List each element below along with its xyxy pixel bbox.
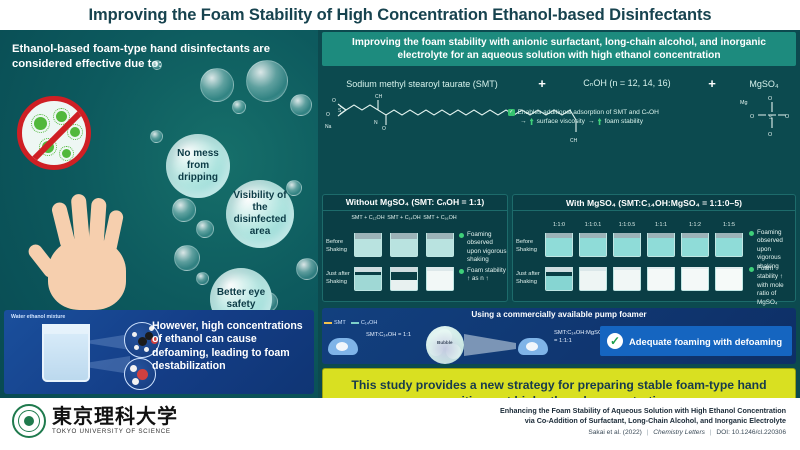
- approach-headline: Improving the foam stability with anioni…: [322, 32, 796, 66]
- adequate-foaming-result: ✓ Adequate foaming with defoaming: [600, 326, 792, 356]
- benefit-label: Visibility of the disinfected area: [226, 190, 294, 238]
- column-header: 1:1:0: [543, 222, 575, 229]
- page-title-bar: Improving the Foam Stability of High Con…: [0, 0, 800, 30]
- citation-meta: Sakai et al. (2022) | Chemistry Letters …: [386, 429, 786, 436]
- note-text: Foam stability ↑ with mole ratio of MgSO…: [757, 265, 795, 307]
- citation-journal: Chemistry Letters: [653, 429, 705, 436]
- university-seal-icon: [12, 404, 46, 438]
- sample-vial: [390, 267, 418, 291]
- washing-hands-illustration: [30, 180, 180, 320]
- sample-vial: [545, 267, 573, 291]
- decor-bubble: [196, 220, 214, 238]
- footer: 東京理科大学 TOKYO UNIVERSITY OF SCIENCE Enhan…: [0, 398, 800, 450]
- university-name-jp: 東京理科大学: [52, 407, 178, 428]
- sample-vial: [681, 267, 709, 291]
- panel-without-note-2: Foam stability ↑ as n ↑: [459, 267, 507, 284]
- decor-bubble: [232, 100, 246, 114]
- column-header: SMT + C₁₄OH: [387, 215, 421, 222]
- sample-vial: [579, 233, 607, 257]
- svg-text:CH: CH: [570, 138, 578, 144]
- sample-vial: [390, 233, 418, 257]
- row-label: Before Shaking: [516, 239, 542, 254]
- panel-without-note-1: Foaming observed upon vigorous shaking: [459, 231, 507, 265]
- beaker-illustration: [42, 324, 90, 382]
- sample-vial: [647, 267, 675, 291]
- sample-vial: [715, 233, 743, 257]
- column-header: 1:1:1: [645, 222, 677, 229]
- sample-vial: [647, 233, 675, 257]
- panel-with-note-2: Foam stability ↑ with mole ratio of MgSO…: [749, 265, 795, 307]
- legend-label: C₁₄OH: [361, 320, 378, 326]
- panel-with-mgso4: With MgSO₄ (SMT:C₁₄OH:MgSO₄ = 1:1:0–5) 1…: [512, 194, 796, 302]
- column-header: 1:1:0.5: [611, 222, 643, 229]
- note-text: Foaming observed upon vigorous shaking: [467, 231, 507, 265]
- row-label: Before Shaking: [326, 239, 352, 254]
- bubble-microstructure-icon: Bubble: [426, 326, 464, 364]
- citation-separator: |: [644, 429, 652, 436]
- hand-foam-icon: [514, 330, 554, 358]
- citation-doi: DOI: 10.1246/cl.220306: [716, 429, 786, 436]
- check-circle-icon: ✓: [607, 333, 623, 349]
- svg-text:O: O: [768, 96, 772, 102]
- panel-with-title: With MgSO₄ (SMT:C₁₄OH:MgSO₄ = 1:1:0–5): [513, 195, 795, 211]
- svg-text:O: O: [382, 126, 386, 132]
- bullet-icon: [459, 233, 464, 238]
- decor-bubble: [296, 258, 318, 280]
- however-text: However, high concentrations of ethanol …: [152, 320, 310, 374]
- increase-arrow-icon: [598, 118, 602, 125]
- decor-bubble: [246, 60, 288, 102]
- decor-bubble: [290, 94, 312, 116]
- pump-foamer-section: Using a commercially available pump foam…: [322, 308, 796, 364]
- citation-authors: Sakai et al. (2022): [588, 429, 642, 436]
- note-text: Foam stability ↑ as n ↑: [467, 267, 507, 284]
- sample-vial: [715, 267, 743, 291]
- sample-vial: [579, 267, 607, 291]
- formulation-row: Sodium methyl stearoyl taurate (SMT) + C…: [322, 76, 796, 91]
- mechanism-note: ✓ Enables additional adsorption of SMT a…: [508, 108, 792, 126]
- no-germs-icon: [17, 96, 91, 170]
- university-name-en: TOKYO UNIVERSITY OF SCIENCE: [52, 428, 178, 435]
- benefit-bubble-visibility: Visibility of the disinfected area: [226, 180, 294, 248]
- decor-bubble: [152, 60, 162, 70]
- arrow-icon: →: [520, 117, 527, 126]
- sample-vial: [354, 267, 382, 291]
- bullet-icon: [749, 267, 754, 272]
- paper-title-line-2: via Co-Addition of Surfactant, Long-Chai…: [386, 416, 786, 426]
- plus-sign: +: [692, 76, 732, 91]
- mechanism-line-2: → surface viscosity → foam stability: [508, 117, 792, 126]
- mechanism-line-1: ✓ Enables additional adsorption of SMT a…: [508, 108, 792, 117]
- sample-vial: [354, 233, 382, 257]
- bullet-icon: [459, 269, 464, 274]
- svg-text:CH: CH: [375, 94, 383, 100]
- mechanism-line-2-b: foam stability: [605, 117, 643, 126]
- svg-text:O: O: [326, 112, 330, 118]
- sample-vial: [613, 267, 641, 291]
- decor-bubble: [150, 130, 163, 143]
- university-logo: 東京理科大学 TOKYO UNIVERSITY OF SCIENCE: [12, 404, 178, 438]
- svg-text:O: O: [768, 132, 772, 138]
- ethanol-defoaming-callout: Water ethanol mixture However, high conc…: [4, 310, 314, 394]
- benefit-bubble-no-mess: No mess from dripping: [166, 134, 230, 198]
- svg-text:Mg: Mg: [740, 100, 748, 106]
- column-header: 1:1:2: [679, 222, 711, 229]
- zoom-connector-icon: [464, 332, 516, 358]
- benefit-label: Better eye safety: [210, 287, 272, 311]
- column-header: SMT + C₁₆OH: [423, 215, 457, 222]
- sample-vial: [545, 233, 573, 257]
- mechanism-line-1-text: Enables additional adsorption of SMT and…: [518, 108, 659, 117]
- legend-smt: SMT C₁₄OH: [324, 320, 377, 326]
- svg-text:Na: Na: [325, 124, 332, 130]
- bullet-icon: [749, 231, 754, 236]
- sample-vial: [426, 267, 454, 291]
- panel-without-mgso4: Without MgSO₄ (SMT: CₙOH = 1:1) SMT + C₁…: [322, 194, 508, 302]
- svg-text:O: O: [332, 98, 336, 104]
- adequate-foaming-text: Adequate foaming with defoaming: [629, 336, 782, 347]
- column-header: 1:1:0.1: [577, 222, 609, 229]
- citation-block: Enhancing the Foam Stability of Aqueous …: [386, 406, 786, 436]
- legend-swatch-icon: [324, 322, 332, 324]
- benefit-label: No mess from dripping: [166, 148, 230, 184]
- sample-vial: [426, 233, 454, 257]
- row-label: Just after Shaking: [326, 271, 354, 286]
- pump-left-ratio: SMT:C₁₄OH = 1:1: [366, 332, 422, 340]
- decor-bubble: [200, 68, 234, 102]
- component-mgso4: MgSO₄: [732, 79, 796, 89]
- mechanism-line-2-a: surface viscosity: [537, 117, 585, 126]
- increase-arrow-icon: [530, 118, 534, 125]
- sample-vial: [681, 233, 709, 257]
- legend-label: SMT: [334, 320, 346, 326]
- panel-without-title: Without MgSO₄ (SMT: CₙOH = 1:1): [323, 195, 507, 211]
- decor-bubble: [196, 272, 209, 285]
- hand-foam-icon: [324, 330, 364, 358]
- sample-vial: [613, 233, 641, 257]
- beaker-caption: Water ethanol mixture: [11, 314, 65, 320]
- row-label: Just after Shaking: [516, 271, 544, 286]
- citation-separator: |: [707, 429, 715, 436]
- column-header: 1:1:5: [713, 222, 745, 229]
- paper-title-line-1: Enhancing the Foam Stability of Aqueous …: [386, 406, 786, 416]
- plus-sign: +: [522, 76, 562, 91]
- component-alcohol: CₙOH (n = 12, 14, 16): [562, 78, 692, 89]
- arrow-icon: →: [588, 117, 595, 126]
- component-smt: Sodium methyl stearoyl taurate (SMT): [322, 79, 522, 89]
- svg-text:N: N: [374, 120, 378, 126]
- pump-foamer-title: Using a commercially available pump foam…: [322, 310, 796, 319]
- page-title: Improving the Foam Stability of High Con…: [89, 6, 712, 25]
- check-icon: ✓: [508, 109, 515, 116]
- legend-swatch-icon: [351, 322, 359, 324]
- pump-right-ratio: SMT:C₁₄OH:MgSO₄ = 1:1:1: [554, 330, 604, 345]
- column-header: SMT + C₁₂OH: [351, 215, 385, 222]
- approach-headline-text: Improving the foam stability with anioni…: [322, 36, 796, 63]
- right-results-panel: Improving the foam stability with anioni…: [318, 30, 800, 398]
